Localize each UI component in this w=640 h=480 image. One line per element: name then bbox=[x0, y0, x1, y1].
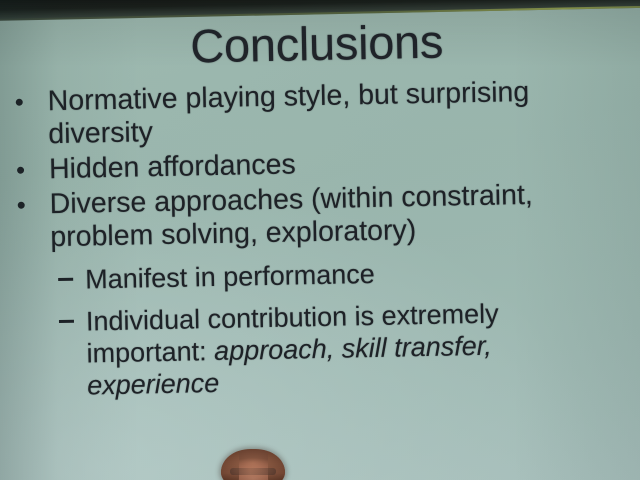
list-item-label: Diverse approaches (within constraint, p… bbox=[49, 179, 533, 253]
slide-body: Normative playing style, but surprising … bbox=[9, 74, 615, 402]
dash-bullet-icon bbox=[59, 320, 74, 323]
sub-list-item: Manifest in performance bbox=[13, 253, 614, 297]
list-item: Normative playing style, but surprising … bbox=[9, 75, 578, 152]
list-item-label: Normative playing style, but surprising … bbox=[47, 76, 529, 150]
dash-bullet-icon bbox=[58, 278, 73, 281]
page-title: Conclusions bbox=[0, 10, 637, 77]
photo-of-projected-slide: Conclusions Normative playing style, but… bbox=[0, 0, 640, 480]
head-shading bbox=[221, 449, 285, 480]
sub-list-item: Individual contribution is extremely imp… bbox=[14, 295, 616, 403]
bullet-dot-icon bbox=[18, 202, 25, 209]
presenter-head bbox=[221, 449, 285, 480]
bullet-dot-icon bbox=[17, 167, 24, 174]
sub-list-item-label: Manifest in performance bbox=[85, 259, 375, 295]
bullet-dot-icon bbox=[16, 99, 23, 106]
list-item-label: Hidden affordances bbox=[49, 148, 296, 185]
slide-content: Conclusions Normative playing style, but… bbox=[0, 0, 640, 480]
list-item: Diverse approaches (within constraint, p… bbox=[11, 178, 580, 255]
